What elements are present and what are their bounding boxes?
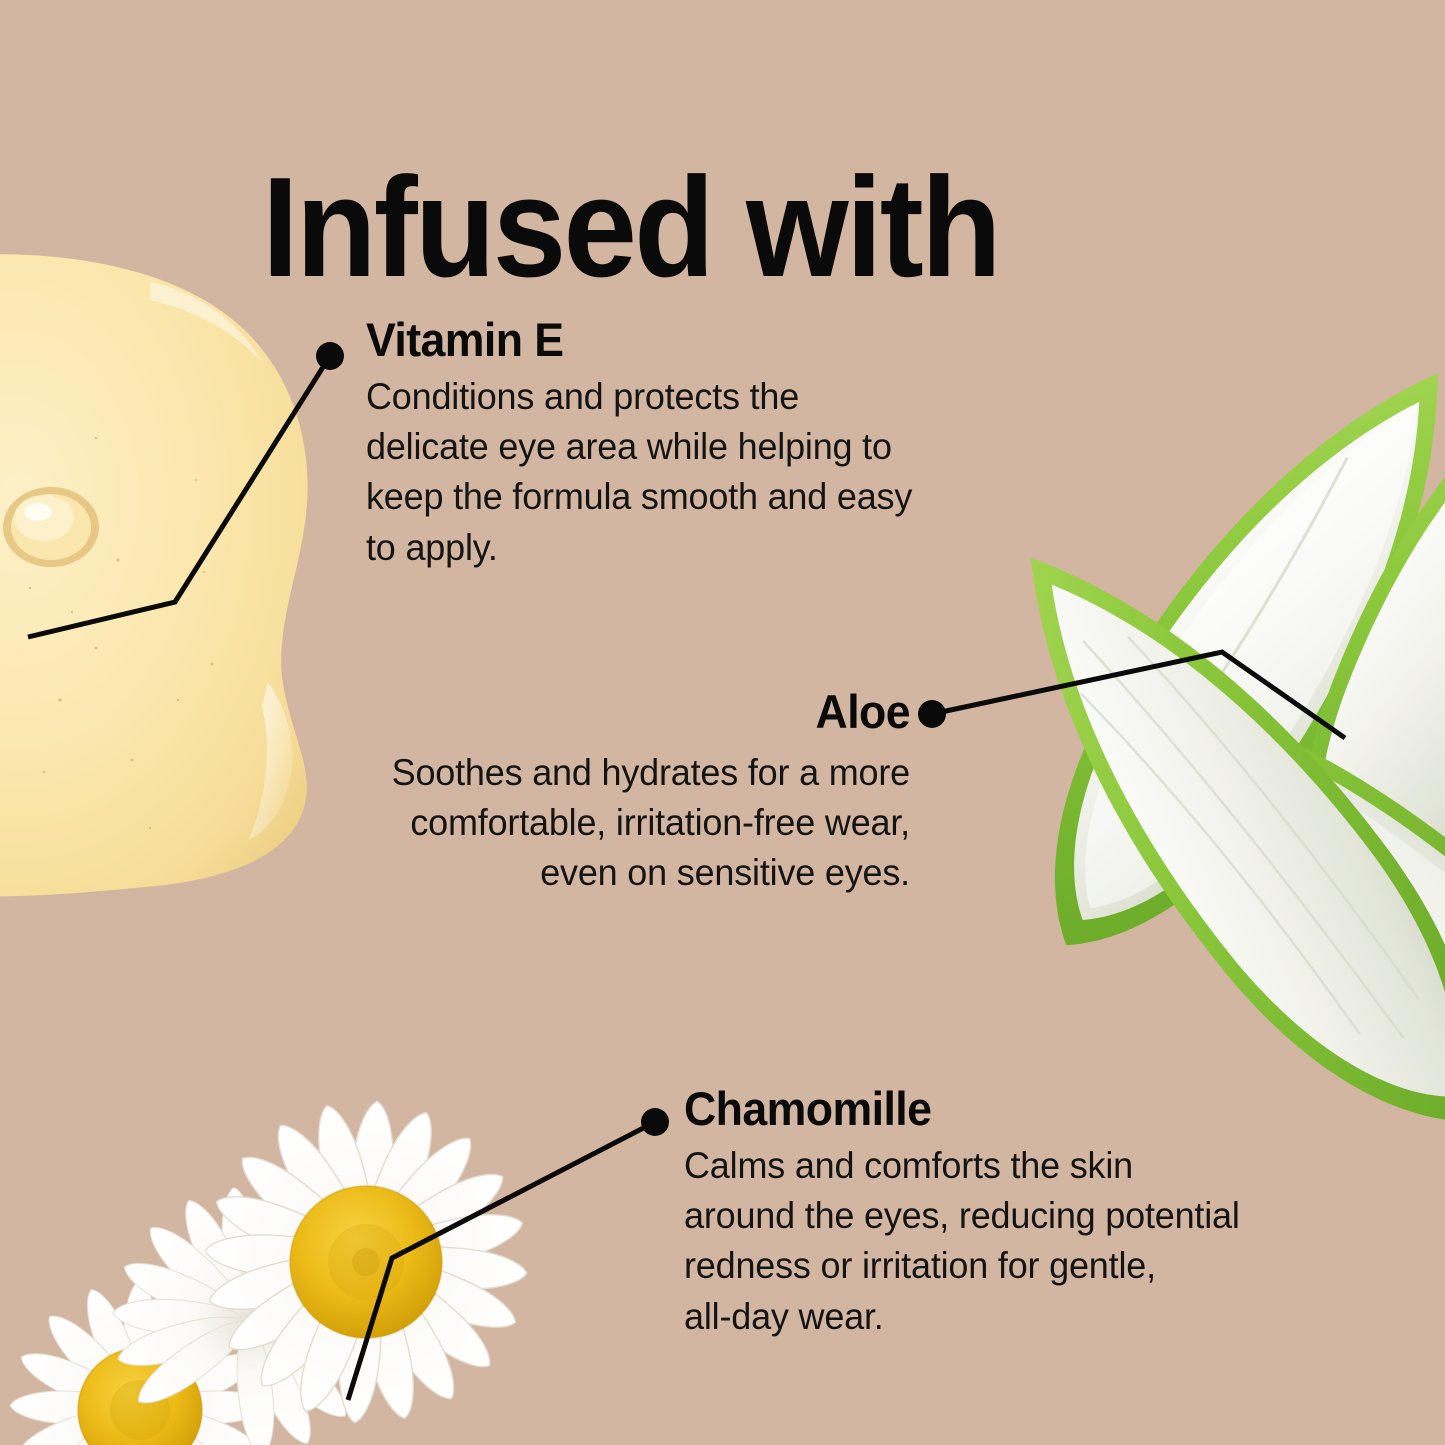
- page-title: Infused with: [262, 157, 999, 299]
- desc-line: to apply.: [366, 526, 498, 568]
- leader-line-aloe: [932, 652, 1345, 738]
- desc-line: redness or irritation for gentle,: [684, 1244, 1156, 1286]
- desc-line: around the eyes, reducing potential: [684, 1194, 1240, 1236]
- ingredient-description-vitamin-e: Conditions and protects thedelicate eye …: [366, 371, 1038, 572]
- desc-line: Conditions and protects the: [366, 375, 799, 417]
- desc-line: Soothes and hydrates for a more: [392, 751, 910, 793]
- ingredient-name-chamomille: Chamomille: [684, 1084, 1349, 1134]
- leader-dot-chamomille: [641, 1108, 669, 1136]
- desc-line: even on sensitive eyes.: [540, 851, 910, 893]
- ingredient-callout-aloe: Aloe Soothes and hydrates for a morecomf…: [300, 687, 910, 898]
- ingredient-callout-vitamin-e: Vitamin E Conditions and protects thedel…: [366, 315, 1066, 572]
- ingredient-callout-chamomille: Chamomille Calms and comforts the skinar…: [684, 1084, 1384, 1341]
- desc-line: keep the formula smooth and easy: [366, 475, 912, 517]
- ingredient-description-aloe: Soothes and hydrates for a morecomfortab…: [324, 747, 910, 898]
- ingredient-name-vitamin-e: Vitamin E: [366, 315, 1031, 365]
- ingredient-name-aloe: Aloe: [331, 687, 911, 737]
- leader-dot-vitamin-e: [316, 342, 344, 370]
- ingredient-description-chamomille: Calms and comforts the skinaround the ey…: [684, 1140, 1356, 1341]
- leader-dot-aloe: [918, 700, 946, 728]
- desc-line: all-day wear.: [684, 1295, 884, 1337]
- desc-line: comfortable, irritation-free wear,: [410, 801, 910, 843]
- leader-line-vitamin-e: [28, 356, 330, 637]
- leader-line-chamomille: [348, 1122, 655, 1400]
- infused-with-poster: Infused with Vitamin E Conditions and pr…: [0, 0, 1445, 1445]
- desc-line: delicate eye area while helping to: [366, 425, 892, 467]
- desc-line: Calms and comforts the skin: [684, 1144, 1133, 1186]
